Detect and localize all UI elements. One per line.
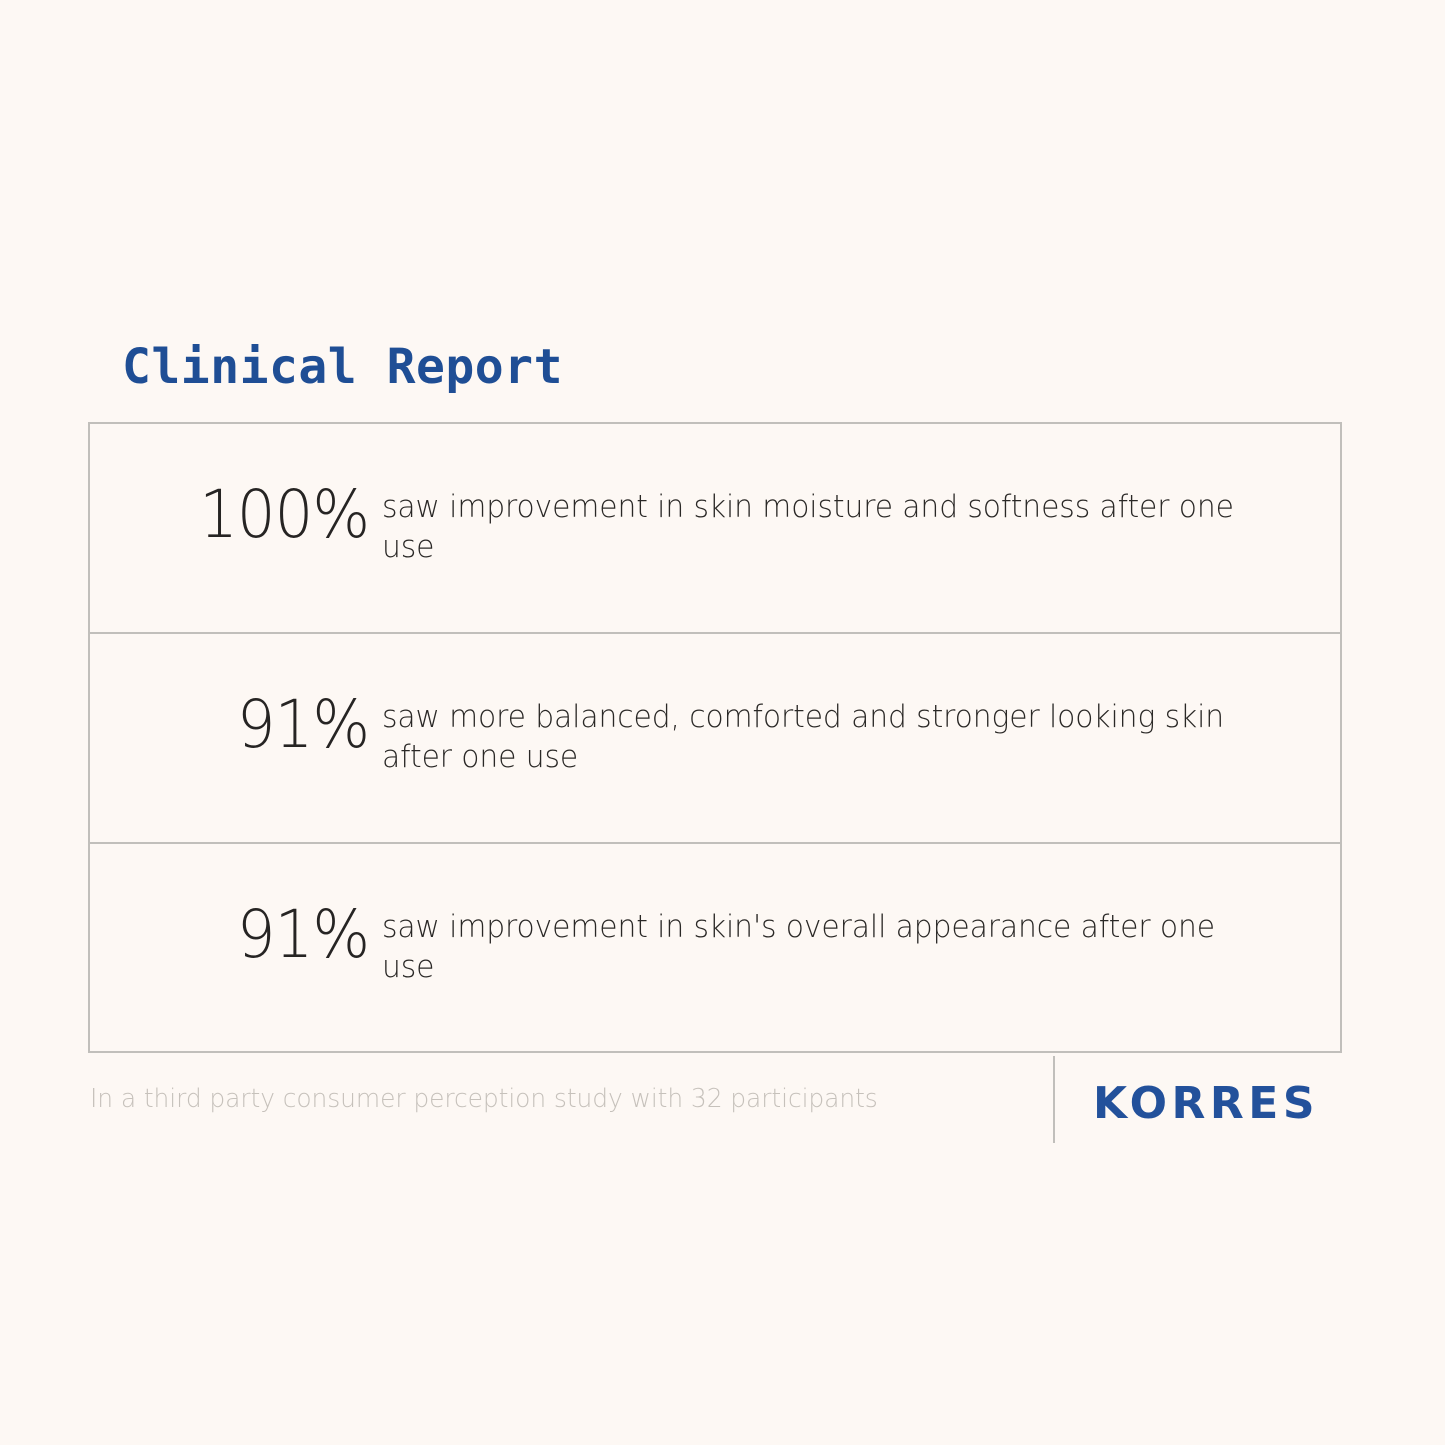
footer: In a third party consumer perception stu… (88, 1053, 1342, 1153)
stat-description: saw improvement in skin's overall appear… (382, 844, 1302, 987)
study-footnote: In a third party consumer perception stu… (90, 1084, 878, 1115)
stat-percentage: 100% (113, 424, 382, 548)
clinical-report-card: Clinical Report 100% saw improvement in … (0, 0, 1445, 1445)
stat-percentage: 91% (113, 634, 382, 758)
table-row: 100% saw improvement in skin moisture an… (90, 424, 1340, 634)
stat-description: saw improvement in skin moisture and sof… (382, 424, 1302, 567)
table-row: 91% saw improvement in skin's overall ap… (90, 844, 1340, 1051)
stat-description: saw more balanced, comforted and stronge… (382, 634, 1302, 777)
brand-logo: KORRES (1093, 1078, 1319, 1131)
stat-percentage: 91% (113, 844, 382, 968)
footer-divider (1053, 1056, 1055, 1143)
table-row: 91% saw more balanced, comforted and str… (90, 634, 1340, 844)
page-title: Clinical Report (122, 341, 563, 394)
stats-table: 100% saw improvement in skin moisture an… (88, 422, 1342, 1053)
